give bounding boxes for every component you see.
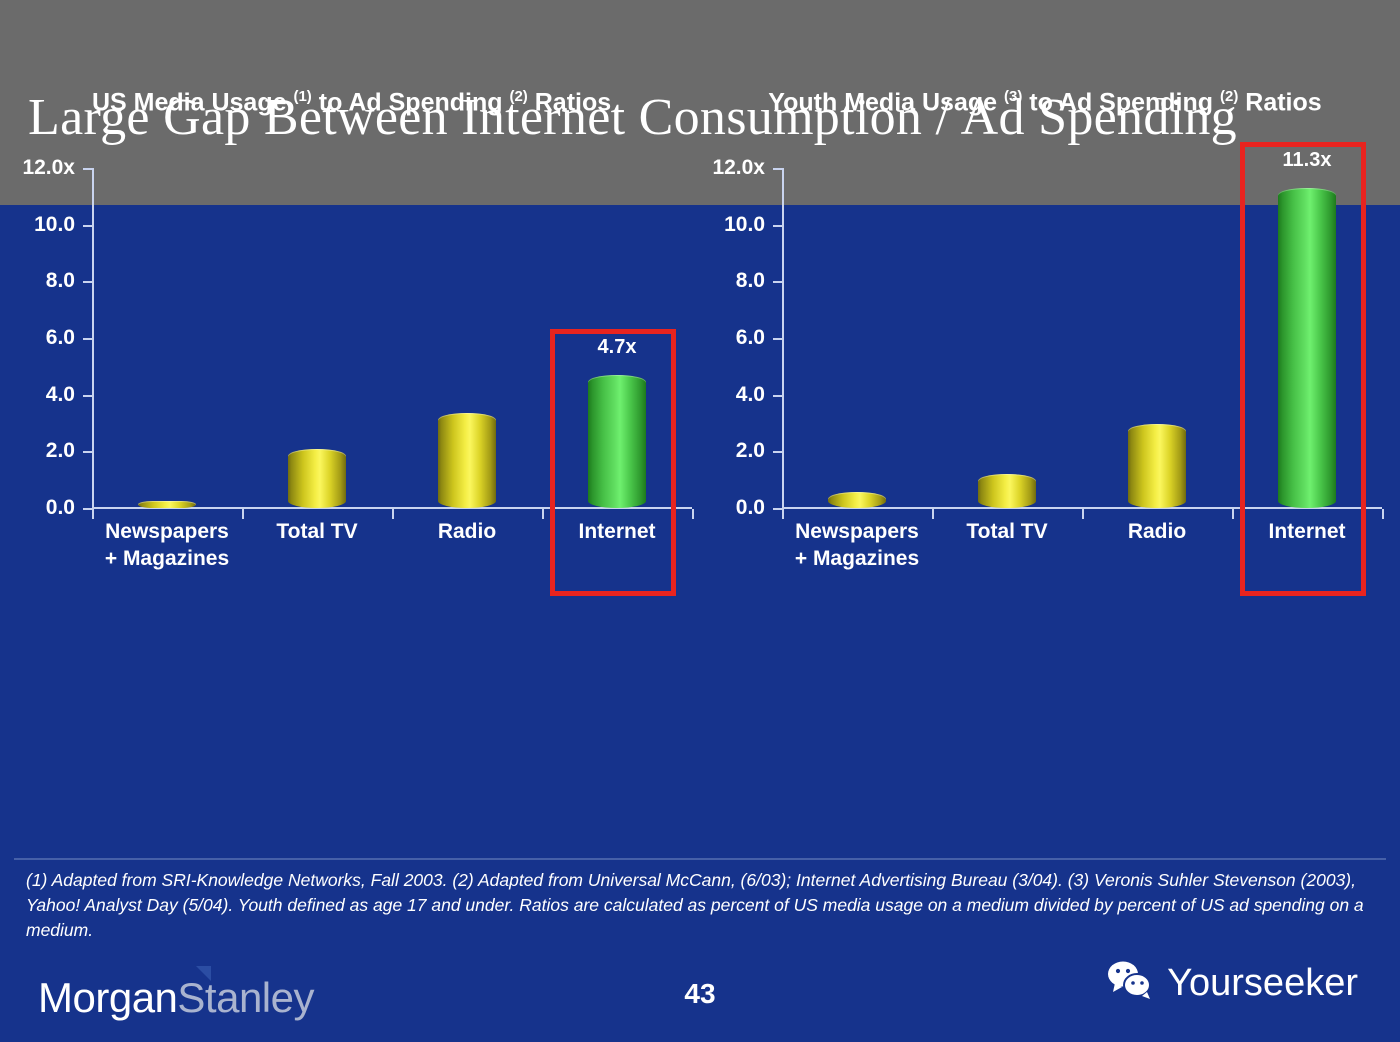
- y-axis-tick-label: 2.0: [645, 439, 765, 463]
- footnote-ref-2: (2): [509, 88, 527, 105]
- y-axis-tick: [83, 395, 94, 397]
- y-axis-tick: [83, 338, 94, 340]
- bar-cylinder: [978, 474, 1036, 508]
- y-axis-tick: [773, 281, 784, 283]
- bar-cylinder: [1128, 424, 1186, 508]
- footnote-ref-1: (1): [293, 88, 311, 105]
- y-axis-tick-label: 12.0x: [0, 156, 75, 180]
- bar-cylinder: [588, 375, 646, 508]
- y-axis-tick-label: 8.0: [0, 269, 75, 293]
- x-axis-category-label: Internet: [517, 518, 717, 545]
- slide-canvas: Large Gap Between Internet Consumption /…: [0, 0, 1400, 1042]
- y-axis-tick-label: 6.0: [645, 326, 765, 350]
- footnote-ref-3: (3): [1004, 88, 1022, 105]
- chart-title-part-c: Ratios: [1238, 88, 1321, 116]
- y-axis-tick-label: 0.0: [0, 496, 75, 520]
- page-number: 43: [640, 978, 760, 1010]
- chart-title-part-b: to Ad Spending: [1022, 88, 1220, 116]
- plot-area-youth-media: 12.0x10.08.06.04.02.00.011.3x: [782, 168, 1382, 508]
- chart-title-part-a: US Media Usage: [92, 88, 293, 116]
- chart-panel-us-media: US Media Usage (1) to Ad Spending (2) Ra…: [10, 0, 700, 620]
- y-axis-tick-label: 6.0: [0, 326, 75, 350]
- y-axis-tick: [773, 225, 784, 227]
- chart-title-us-media: US Media Usage (1) to Ad Spending (2) Ra…: [10, 78, 700, 121]
- morgan-stanley-logo: MorganStanley: [38, 975, 314, 1021]
- y-axis-tick: [773, 395, 784, 397]
- y-axis-tick: [83, 168, 94, 170]
- morgan-stanley-triangle-icon: [196, 966, 211, 981]
- y-axis-tick-label: 2.0: [0, 439, 75, 463]
- y-axis-tick: [773, 168, 784, 170]
- y-axis-tick-label: 4.0: [645, 383, 765, 407]
- y-axis-tick: [83, 281, 94, 283]
- chart-panel-youth-media: Youth Media Usage (3) to Ad Spending (2)…: [700, 0, 1390, 620]
- plot-area-us-media: 12.0x10.08.06.04.02.00.04.7x: [92, 168, 692, 508]
- y-axis-tick: [83, 451, 94, 453]
- footnote-ref-2: (2): [1220, 88, 1238, 105]
- chart-title-part-a: Youth Media Usage: [768, 88, 1004, 116]
- y-axis-tick-label: 10.0: [645, 213, 765, 237]
- chart-title-part-b: to Ad Spending: [312, 88, 510, 116]
- y-axis-tick-label: 10.0: [0, 213, 75, 237]
- bar-cylinder: [138, 501, 196, 508]
- y-axis-tick: [83, 225, 94, 227]
- wechat-icon: [1107, 960, 1153, 1005]
- y-axis-tick-label: 8.0: [645, 269, 765, 293]
- y-axis-tick-label: 12.0x: [645, 156, 765, 180]
- bar-cylinder: [828, 492, 886, 508]
- x-axis-category-label: Internet: [1207, 518, 1400, 545]
- y-axis-tick: [773, 338, 784, 340]
- chart-title-youth-media: Youth Media Usage (3) to Ad Spending (2)…: [700, 78, 1390, 121]
- y-axis-tick: [773, 451, 784, 453]
- y-axis-tick-label: 0.0: [645, 496, 765, 520]
- chart-title-part-c: Ratios: [528, 88, 611, 116]
- brand-name-label: Yourseeker: [1167, 961, 1358, 1005]
- logo-text-stanley: Stanley: [177, 974, 314, 1021]
- bar-cylinder: [1278, 188, 1336, 508]
- logo-text-morgan: Morgan: [38, 974, 177, 1021]
- bar-cylinder: [288, 449, 346, 509]
- brand-watermark: Yourseeker: [1107, 960, 1358, 1005]
- footnote-divider-top: [14, 858, 1386, 860]
- bar-cylinder: [438, 413, 496, 508]
- y-axis-tick-label: 4.0: [0, 383, 75, 407]
- footnote-text: (1) Adapted from SRI-Knowledge Networks,…: [26, 868, 1374, 943]
- bar-value-label: 11.3x: [1247, 149, 1367, 172]
